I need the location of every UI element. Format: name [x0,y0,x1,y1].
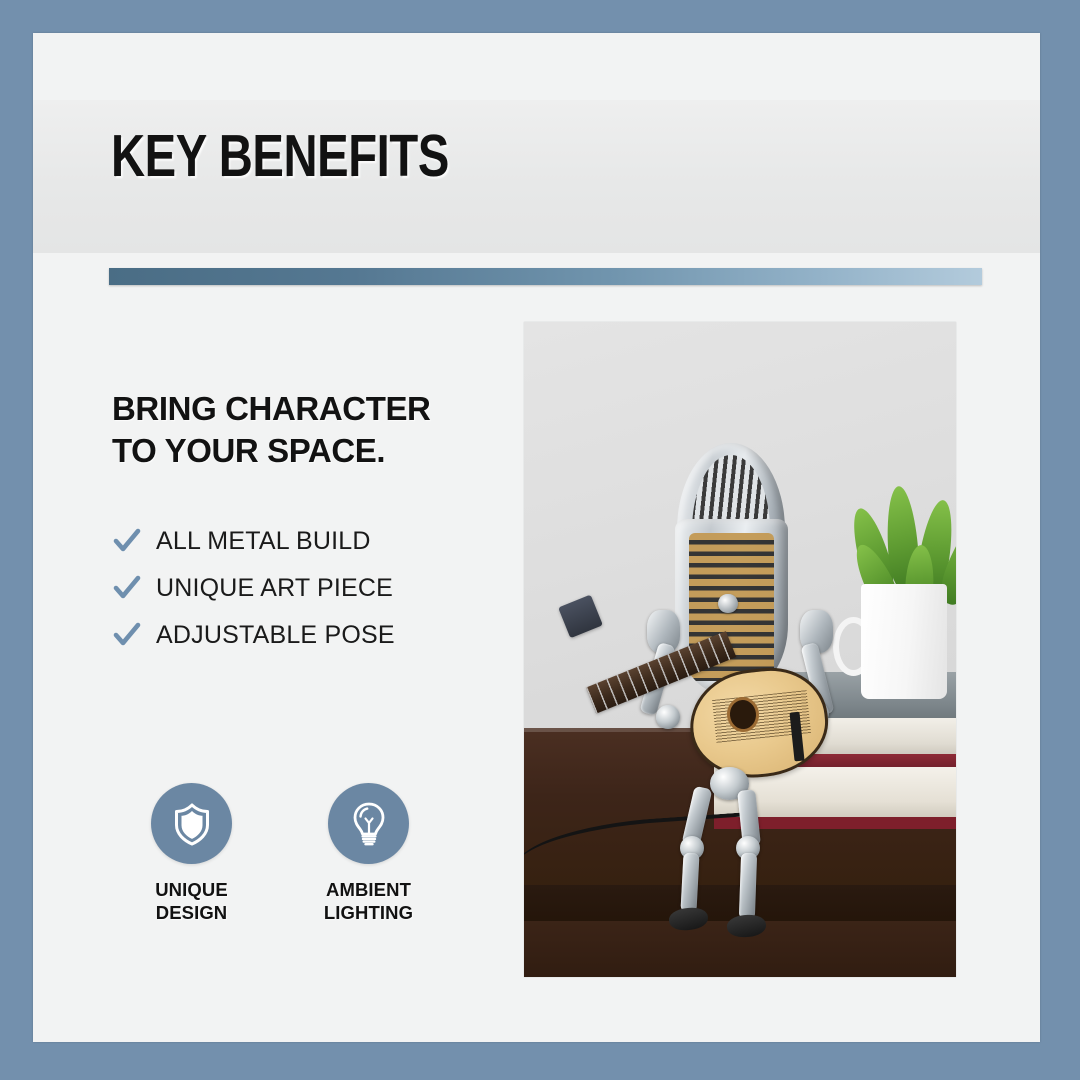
badge-ambient-lighting: AMBIENT LIGHTING [305,783,432,924]
feature-badges: UNIQUE DESIGN AMBIENT LIGHTING [128,783,432,924]
benefits-list: ALL METAL BUILD UNIQUE ART PIECE ADJUSTA… [112,525,512,652]
list-item: UNIQUE ART PIECE [112,572,512,605]
content-card: KEY BENEFITS BRING CHARACTER TO YOUR SPA… [33,33,1040,1042]
header-band: KEY BENEFITS [33,100,1040,253]
benefit-label: ADJUSTABLE POSE [156,621,395,650]
lightbulb-icon [344,799,394,849]
check-icon [112,526,142,556]
list-item: ADJUSTABLE POSE [112,619,512,652]
list-item: ALL METAL BUILD [112,525,512,558]
slide-canvas: KEY BENEFITS BRING CHARACTER TO YOUR SPA… [0,0,1080,1080]
badge-label-line-2: LIGHTING [305,902,432,925]
photo-mug [861,584,947,699]
subheading-line-1: BRING CHARACTER [112,388,512,430]
badge-unique-design: UNIQUE DESIGN [128,783,255,924]
page-title: KEY BENEFITS [111,122,449,190]
benefit-label: UNIQUE ART PIECE [156,574,393,603]
check-icon [112,573,142,603]
badge-label: UNIQUE DESIGN [128,879,255,924]
left-content-column: BRING CHARACTER TO YOUR SPACE. ALL METAL… [112,388,512,666]
product-photo [524,322,956,977]
photo-robot-elbow-left [656,705,680,729]
accent-divider-bar [109,268,982,285]
shield-icon [167,799,217,849]
badge-label-line-1: AMBIENT [305,879,432,902]
subheading-line-2: TO YOUR SPACE. [112,430,512,472]
photo-mic-knob [718,594,737,614]
section-subheading: BRING CHARACTER TO YOUR SPACE. [112,388,512,472]
photo-robot-shin-right [739,852,758,918]
benefit-label: ALL METAL BUILD [156,527,371,556]
badge-circle [328,783,409,864]
badge-circle [151,783,232,864]
badge-label: AMBIENT LIGHTING [305,879,432,924]
check-icon [112,620,142,650]
